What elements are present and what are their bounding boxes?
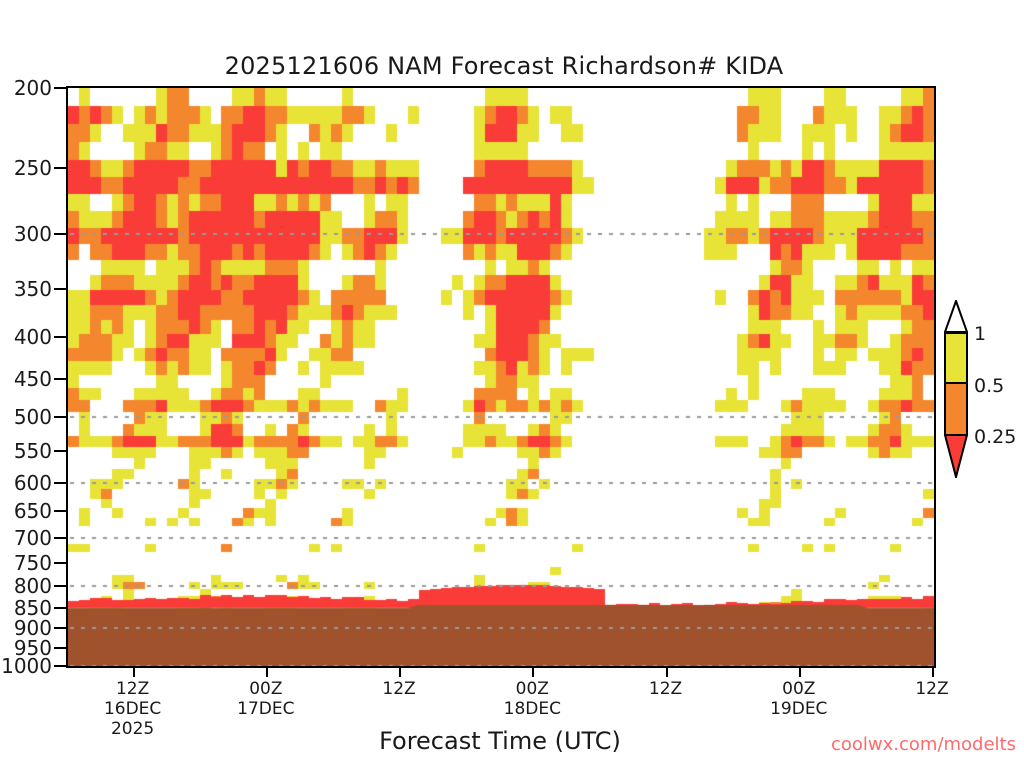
colorbar-segment-orange [946, 384, 966, 434]
x-label-date: 17DEC [237, 699, 294, 719]
x-axis-tick-1 [266, 668, 268, 677]
y-axis-label-500: 500 [14, 405, 52, 429]
y-axis-tick-450 [54, 378, 66, 380]
y-axis-label-750: 750 [14, 551, 52, 575]
colorbar-legend: 1 0.5 0.25 [944, 300, 1024, 500]
y-axis-tick-500 [54, 416, 66, 418]
x-label-date: 18DEC [504, 699, 561, 719]
chart-page: 2025121606 NAM Forecast Richardson# KIDA… [0, 0, 1024, 768]
x-axis-tick-5 [799, 668, 801, 677]
footer-credit: coolwx.com/modelts [831, 734, 1016, 755]
y-axis-label-350: 350 [14, 277, 52, 301]
colorbar-top-arrow-icon [944, 300, 968, 333]
chart-title-text: 2025121606 NAM Forecast Richardson# KIDA [225, 52, 784, 80]
y-axis-tick-550 [54, 450, 66, 452]
y-axis-tick-250 [54, 167, 66, 169]
x-label-time: 12Z [649, 679, 682, 699]
y-axis-tick-400 [54, 336, 66, 338]
y-axis-label-600: 600 [14, 471, 52, 495]
x-axis-label-4: 12Z [649, 679, 682, 699]
y-axis-label-200: 200 [14, 76, 52, 100]
colorbar-segment-yellow [946, 334, 966, 384]
colorbar-label-0-25: 0.25 [974, 426, 1016, 448]
x-axis-tick-0 [133, 668, 135, 677]
page-title: 2025121606 NAM Forecast Richardson# KIDA [0, 52, 1024, 80]
y-axis-tick-600 [54, 482, 66, 484]
x-axis-title-text: Forecast Time (UTC) [379, 727, 621, 755]
y-axis-label-250: 250 [14, 156, 52, 180]
x-label-time: 12Z [382, 679, 415, 699]
x-axis-label-1: 00Z17DEC [237, 679, 294, 719]
x-label-time: 12Z [104, 679, 161, 699]
y-axis-label-650: 650 [14, 499, 52, 523]
x-axis-label-6: 12Z [915, 679, 948, 699]
x-axis-tick-2 [399, 668, 401, 677]
y-axis-label-300: 300 [14, 222, 52, 246]
y-axis-label-400: 400 [14, 325, 52, 349]
y-axis-tick-1000 [54, 665, 66, 667]
x-axis-label-5: 00Z19DEC [770, 679, 827, 719]
colorbar-label-0-5: 0.5 [974, 375, 1004, 397]
x-axis-tick-3 [532, 668, 534, 677]
y-axis-label-450: 450 [14, 367, 52, 391]
y-axis-tick-200 [54, 87, 66, 89]
x-axis-tick-6 [932, 668, 934, 677]
x-label-time: 00Z [237, 679, 294, 699]
y-axis: 2002503003504004505005506006507007508008… [0, 86, 66, 668]
x-axis-tick-4 [666, 668, 668, 677]
plot-area [66, 86, 936, 668]
y-axis-tick-750 [54, 562, 66, 564]
x-label-time: 00Z [504, 679, 561, 699]
y-axis-label-700: 700 [14, 526, 52, 550]
y-axis-label-550: 550 [14, 439, 52, 463]
y-axis-tick-300 [54, 233, 66, 235]
x-label-date: 19DEC [770, 699, 827, 719]
x-axis-label-3: 00Z18DEC [504, 679, 561, 719]
gridlines [68, 88, 934, 666]
y-axis-tick-900 [54, 627, 66, 629]
x-label-time: 12Z [915, 679, 948, 699]
colorbar-label-1: 1 [974, 323, 986, 345]
y-axis-tick-700 [54, 537, 66, 539]
y-axis-tick-350 [54, 288, 66, 290]
x-label-date: 16DEC [104, 699, 161, 719]
y-axis-tick-850 [54, 607, 66, 609]
colorbar-body [944, 332, 968, 436]
y-axis-tick-950 [54, 647, 66, 649]
y-axis-label-800: 800 [14, 574, 52, 598]
y-axis-tick-650 [54, 510, 66, 512]
x-axis-label-2: 12Z [382, 679, 415, 699]
x-label-time: 00Z [770, 679, 827, 699]
y-axis-tick-800 [54, 585, 66, 587]
colorbar-bottom-arrow-icon [944, 434, 968, 478]
